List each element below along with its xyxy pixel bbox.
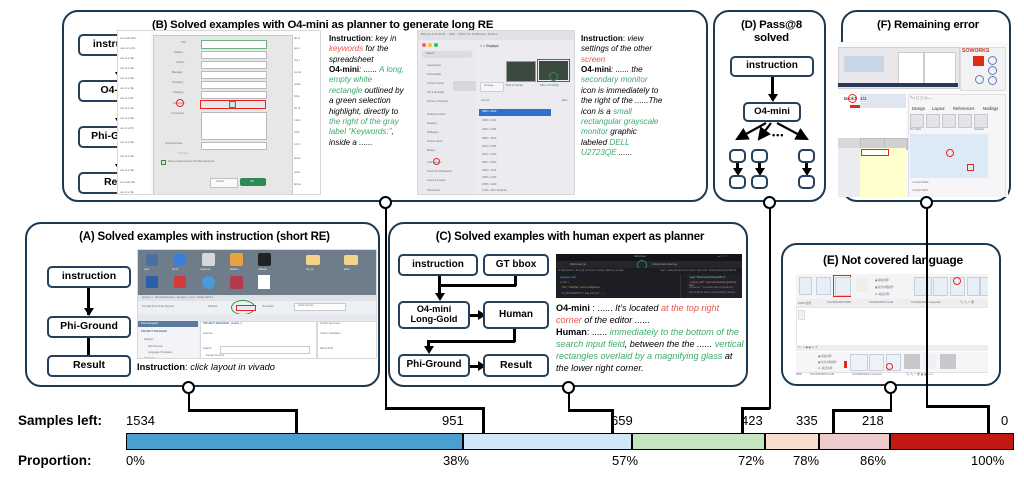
c-model-it2: of the editor ...... bbox=[582, 315, 650, 325]
panel-d-leaf-2a bbox=[751, 149, 768, 163]
panel-a-caption-label: Instruction bbox=[137, 362, 185, 372]
connector-b-v2 bbox=[482, 407, 485, 435]
panel-a-node-result: Result bbox=[47, 355, 131, 377]
samples-value-3: 423 bbox=[741, 413, 763, 428]
document-properties-screenshot: we mode filter uses of a rille use of a … bbox=[117, 30, 321, 195]
c-human-plain1: , between the the ...... bbox=[625, 339, 715, 349]
bar-segment-5[interactable] bbox=[890, 433, 1014, 450]
c-human-text: : ...... bbox=[587, 327, 610, 337]
panel-c-node-gtbbox: GT bbox bbox=[483, 254, 549, 276]
panel-a: (A) Solved examples with instruction (sh… bbox=[25, 222, 380, 387]
bar-segment-1[interactable] bbox=[463, 433, 632, 450]
b1-model-label: O4-mini bbox=[329, 65, 359, 74]
c-model-it1: It’s located bbox=[615, 303, 661, 313]
panel-d-leaf-1b bbox=[729, 175, 746, 189]
panel-c-node-phiground: Phi-Ground bbox=[398, 354, 470, 377]
error-circle-1 bbox=[848, 94, 857, 103]
percent-value-4: 78% bbox=[793, 453, 819, 468]
panel-e-title: (E) Not covered language bbox=[783, 253, 1003, 267]
selected-cell-highlight bbox=[861, 149, 889, 156]
dialog-field-title bbox=[201, 40, 267, 49]
macos-displays-screenshot: MAC-GL-D 44-S1-00 ... 1900 ... PNN1 X74.… bbox=[417, 30, 575, 195]
panel-a-arrowhead-1 bbox=[84, 308, 94, 316]
percent-value-5: 86% bbox=[860, 453, 886, 468]
panel-d-node-o4mini: O4-mini bbox=[743, 102, 801, 122]
percent-value-0: 0% bbox=[126, 453, 145, 468]
connector-a-h bbox=[188, 409, 298, 412]
panel-f: (F) Remaining error SOWORKS Book1 · 1/1 … bbox=[841, 10, 1011, 202]
percent-value-1: 38% bbox=[443, 453, 469, 468]
solidworks-screenshot: ▣ 横向注释 ▣ 综生单图材件 A□ 格式名称 ORKS 插件 SOLIDWOR… bbox=[796, 274, 988, 379]
samples-value-4: 335 bbox=[796, 413, 818, 428]
panel-c-arrowhead-3 bbox=[424, 346, 434, 354]
b1-green-2: the right of the gray label “Keywords:” bbox=[329, 117, 399, 136]
connector-b-v bbox=[385, 208, 388, 409]
panel-b: (B) Solved examples with O4-mini as plan… bbox=[62, 10, 708, 202]
samples-value-5: 218 bbox=[862, 413, 884, 428]
bar-segment-2[interactable] bbox=[632, 433, 765, 450]
panel-d-leaf-3a bbox=[798, 149, 815, 163]
c-model-text: : ...... bbox=[590, 303, 615, 313]
panel-f-title: (F) Remaining error bbox=[843, 19, 1013, 31]
panel-c-join-v2 bbox=[514, 276, 517, 286]
code-editor-screenshot: filebrowser ● □ □ □ filebrowser.go video… bbox=[556, 254, 742, 298]
gt-circle-monitor bbox=[549, 72, 558, 81]
word-table-screenshot: SOWORKS Book1 · 1/1 ↷ • ◻ ◻ ◷ — Design L… bbox=[838, 42, 1008, 197]
gt-circle-sw bbox=[953, 277, 961, 285]
panel-a-node-instruction: instruction bbox=[47, 266, 131, 288]
connector-f-v2 bbox=[987, 405, 990, 435]
connector-d-v bbox=[769, 208, 772, 409]
panel-d-leaf-3b bbox=[798, 175, 815, 189]
percent-value-6: 100% bbox=[971, 453, 1004, 468]
panel-e: (E) Not covered language ▣ 横向注释 ▣ 综生单图材件… bbox=[781, 243, 1001, 386]
c-human-label: Human bbox=[556, 327, 587, 337]
vivado-screenshot: qopt GL.Lt Captures Build-in w/Bag/c LE_… bbox=[137, 249, 377, 359]
panel-d-leaf-2b bbox=[751, 175, 768, 189]
panel-c: (C) Solved examples with human expert as… bbox=[388, 222, 748, 387]
panel-d-arrowhead-1 bbox=[768, 94, 778, 102]
connector-f-h bbox=[926, 405, 990, 408]
c-model-label: O4-mini bbox=[556, 303, 590, 313]
error-marker-3 bbox=[967, 164, 974, 171]
panel-c-text: O4-mini : ...... It’s located at the top… bbox=[556, 302, 744, 374]
panel-c-node-o4mini-label: O4-miniLong-Gold bbox=[411, 305, 458, 325]
b2-model-text: : ...... the bbox=[611, 65, 643, 74]
panel-b-example2-text: Instruction: view settings of the other … bbox=[581, 34, 663, 158]
panel-d-ellipsis: ••• bbox=[772, 130, 784, 140]
panel-c-node-result: Result bbox=[483, 354, 549, 377]
panel-a-caption-text: click layout in vivado bbox=[190, 362, 275, 372]
b2-instruction-label: Instruction bbox=[581, 34, 623, 43]
connector-f-v bbox=[926, 208, 929, 407]
panel-d-title: (D) Pass@8 solved bbox=[723, 19, 820, 45]
samples-value-2: 659 bbox=[611, 413, 633, 428]
panel-c-node-instruction: instruction bbox=[398, 254, 478, 276]
bar-segment-3[interactable] bbox=[765, 433, 819, 450]
b1-instruction-label: Instruction bbox=[329, 34, 371, 43]
samples-value-0: 1534 bbox=[126, 413, 155, 428]
panel-a-node-phiground: Phi-Ground bbox=[47, 316, 131, 338]
panel-c-down-h1 bbox=[427, 340, 515, 343]
percent-value-2: 57% bbox=[612, 453, 638, 468]
soworks-badge: SOWORKS bbox=[962, 48, 989, 54]
bar-segment-4[interactable] bbox=[819, 433, 890, 450]
b1-instruction-hl: keywords bbox=[329, 44, 363, 53]
b2-plain-3: ...... bbox=[617, 148, 633, 157]
connector-c-h bbox=[568, 409, 614, 412]
panel-d: (D) Pass@8 solved instruction O4-mini ••… bbox=[713, 10, 826, 202]
pred-box-layout bbox=[236, 305, 256, 311]
panel-c-arrowhead-1 bbox=[435, 293, 445, 301]
b2-instruction-hl: screen bbox=[581, 55, 605, 64]
samples-value-1: 951 bbox=[442, 413, 464, 428]
bar-segment-0[interactable] bbox=[126, 433, 463, 450]
panel-a-caption: Instruction: click layout in vivado bbox=[137, 362, 275, 372]
b1-instruction-text: key in bbox=[375, 34, 396, 43]
samples-value-6: 0 bbox=[1001, 413, 1008, 428]
b1-model-text: : ...... bbox=[359, 65, 379, 74]
connector-e-v2 bbox=[832, 409, 835, 435]
panel-c-join-h bbox=[438, 284, 516, 287]
gt-marker bbox=[229, 101, 236, 108]
connector-a-v2 bbox=[295, 409, 298, 435]
b2-model-label: O4-mini bbox=[581, 65, 611, 74]
b2-green-1: secondary monitor bbox=[581, 75, 648, 84]
samples-left-label: Samples left: bbox=[18, 413, 102, 428]
pred-marker-sw bbox=[844, 361, 847, 368]
error-circle-2 bbox=[946, 149, 954, 157]
panel-c-node-o4mini-longgold: O4-miniLong-Gold bbox=[398, 301, 470, 329]
click-point-marker bbox=[176, 99, 184, 107]
connector-b-h bbox=[385, 407, 485, 410]
panel-d-node-instruction: instruction bbox=[730, 56, 814, 77]
panel-d-leaf-1a bbox=[729, 149, 746, 163]
panel-b-example1-text: Instruction: key in keywords for the spr… bbox=[329, 34, 407, 148]
progress-bar bbox=[126, 433, 1014, 450]
error-marker-1 bbox=[973, 56, 984, 66]
percent-value-3: 72% bbox=[738, 453, 764, 468]
connector-e-h bbox=[832, 409, 892, 412]
connector-d-h bbox=[741, 407, 770, 410]
panel-c-node-human: Human bbox=[483, 301, 549, 329]
panel-a-title: (A) Solved examples with instruction (sh… bbox=[27, 231, 382, 243]
gt-circle-sw-2 bbox=[886, 363, 893, 370]
proportion-label: Proportion: bbox=[18, 453, 92, 468]
panel-c-title: (C) Solved examples with human expert as… bbox=[390, 231, 750, 243]
